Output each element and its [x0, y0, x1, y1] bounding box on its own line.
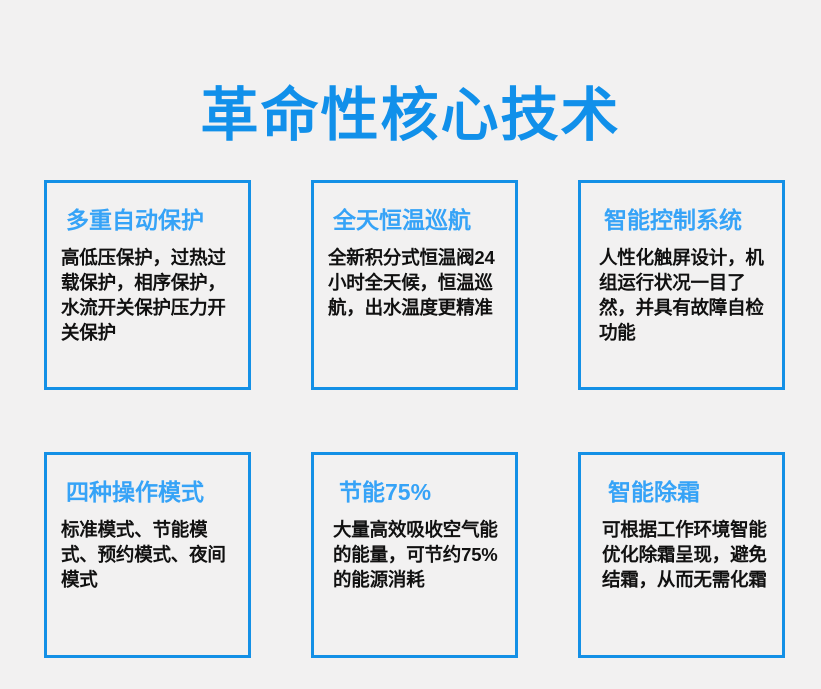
feature-card-saving: 节能75% 大量高效吸收空气能的能量，可节约75%的能源消耗	[311, 452, 518, 658]
page-title: 革命性核心技术	[0, 83, 821, 149]
feature-card-body: 全新积分式恒温阀24小时全天候，恒温巡航，出水温度更精准	[328, 245, 503, 320]
feature-card-body: 可根据工作环境智能优化除霜呈现，避免结霜，从而无需化霜	[602, 517, 770, 592]
feature-card-protection: 多重自动保护 高低压保护，过热过载保护，相序保护，水流开关保护压力开关保护	[44, 180, 251, 390]
feature-card-body: 大量高效吸收空气能的能量，可节约75%的能源消耗	[333, 517, 503, 592]
feature-card-body: 标准模式、节能模式、预约模式、夜间模式	[61, 517, 236, 592]
feature-card-cruise: 全天恒温巡航 全新积分式恒温阀24小时全天候，恒温巡航，出水温度更精准	[311, 180, 518, 390]
feature-card-body: 高低压保护，过热过载保护，相序保护，水流开关保护压力开关保护	[61, 245, 236, 345]
feature-card-title: 多重自动保护	[66, 205, 236, 235]
feature-cards-grid: 多重自动保护 高低压保护，过热过载保护，相序保护，水流开关保护压力开关保护 全天…	[44, 180, 786, 658]
feature-card-title: 四种操作模式	[66, 477, 236, 507]
feature-card-title: 节能75%	[339, 477, 503, 507]
feature-card-control: 智能控制系统 人性化触屏设计，机组运行状况一目了然，并具有故障自检功能	[578, 180, 785, 390]
feature-card-body: 人性化触屏设计，机组运行状况一目了然，并具有故障自检功能	[599, 245, 770, 345]
feature-card-title: 智能除霜	[608, 477, 770, 507]
feature-card-modes: 四种操作模式 标准模式、节能模式、预约模式、夜间模式	[44, 452, 251, 658]
feature-card-title: 全天恒温巡航	[333, 205, 503, 235]
feature-card-defrost: 智能除霜 可根据工作环境智能优化除霜呈现，避免结霜，从而无需化霜	[578, 452, 785, 658]
feature-card-title: 智能控制系统	[604, 205, 770, 235]
